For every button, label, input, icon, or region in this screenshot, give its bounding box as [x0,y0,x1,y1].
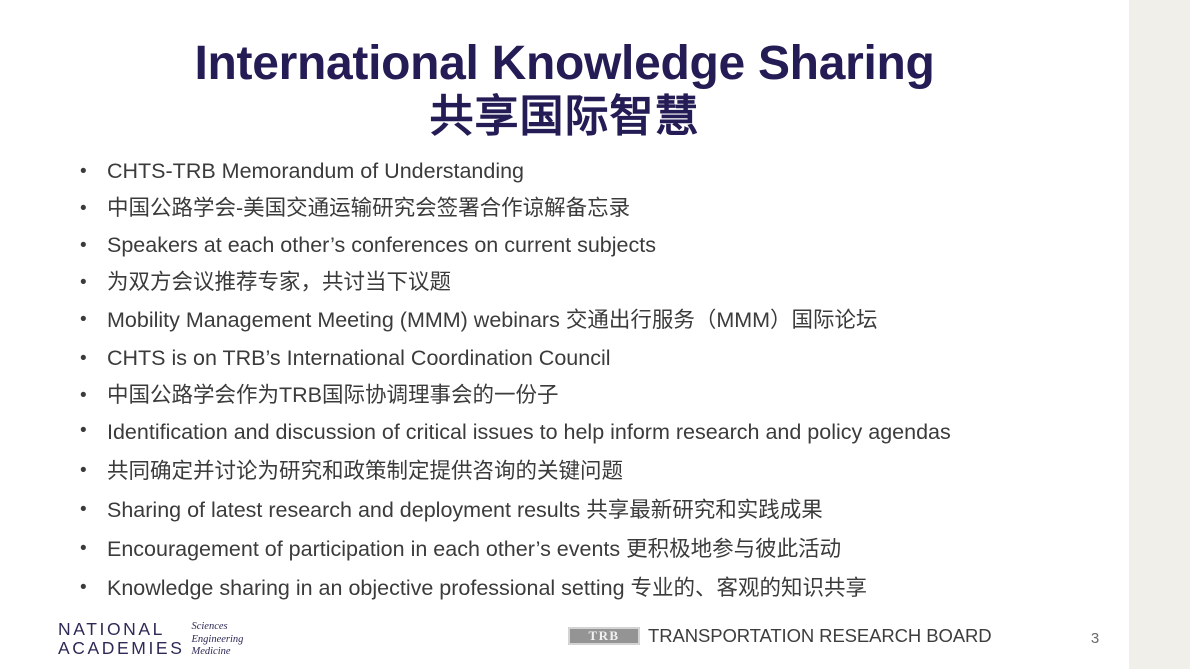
list-item: • Sharing of latest research and deploym… [74,491,1074,530]
trb-mark-icon: TRB [568,627,640,645]
national-academies-divisions: Sciences Engineering Medicine [191,621,243,659]
list-item-text: 为双方会议推荐专家，共讨当下议题 [107,264,1074,301]
list-item: • Speakers at each other’s conferences o… [74,227,1074,264]
bullet-list: • CHTS-TRB Memorandum of Understanding •… [74,153,1074,608]
bullet-marker-icon: • [80,491,94,528]
bullet-marker-icon: • [80,530,94,567]
trb-logo: TRB TRANSPORTATION RESEARCH BOARD [568,626,992,645]
bullet-marker-icon: • [80,153,94,190]
national-academies-line1: NATIONAL [58,620,184,639]
list-item-text: CHTS is on TRB’s International Coordinat… [107,340,1074,377]
list-item: • 为双方会议推荐专家，共讨当下议题 [74,264,1074,301]
list-item: • Mobility Management Meeting (MMM) webi… [74,301,1074,340]
page-title: International Knowledge Sharing 共享国际智慧 [0,36,1129,142]
list-item-text: Identification and discussion of critica… [107,417,1073,448]
bullet-marker-icon: • [80,414,94,448]
division-medicine: Medicine [191,646,243,659]
list-item-text: Speakers at each other’s conferences on … [107,227,1074,264]
trb-mark-text: TRB [589,629,620,642]
bullet-marker-icon: • [80,190,94,227]
division-sciences: Sciences [191,621,243,634]
list-item-text: 共同确定并讨论为研究和政策制定提供咨询的关键问题 [107,452,1074,491]
national-academies-line2: ACADEMIES [58,639,184,658]
slide-canvas: International Knowledge Sharing 共享国际智慧 •… [0,0,1190,669]
trb-wordmark: TRANSPORTATION RESEARCH BOARD [648,626,992,645]
bullet-marker-icon: • [80,264,94,301]
list-item: • 中国公路学会-美国交通运输研究会签署合作谅解备忘录 [74,190,1074,227]
list-item: • CHTS-TRB Memorandum of Understanding [74,153,1074,190]
bullet-marker-icon: • [80,301,94,338]
title-line-english: International Knowledge Sharing [0,36,1129,92]
bullet-marker-icon: • [80,569,94,606]
right-edge-band [1129,0,1190,669]
list-item-text: CHTS-TRB Memorandum of Understanding [107,153,1074,190]
division-engineering: Engineering [191,634,243,647]
list-item-text: Sharing of latest research and deploymen… [107,491,1074,530]
title-line-chinese: 共享国际智慧 [0,92,1129,142]
list-item-text: Knowledge sharing in an objective profes… [107,569,1074,608]
bullet-marker-icon: • [80,377,94,414]
list-item: • Knowledge sharing in an objective prof… [74,569,1074,608]
slide-number: 3 [1080,630,1110,648]
slide-footer: NATIONAL ACADEMIES Sciences Engineering … [0,612,1190,669]
list-item: • CHTS is on TRB’s International Coordin… [74,340,1074,377]
list-item-text: 中国公路学会-美国交通运输研究会签署合作谅解备忘录 [107,190,1074,227]
bullet-marker-icon: • [80,227,94,264]
bullet-marker-icon: • [80,340,94,377]
national-academies-logo: NATIONAL ACADEMIES Sciences Engineering … [58,620,243,659]
list-item-text: 中国公路学会作为TRB国际协调理事会的一份子 [107,377,1074,414]
list-item: • 中国公路学会作为TRB国际协调理事会的一份子 [74,377,1074,414]
national-academies-wordmark: NATIONAL ACADEMIES [58,620,184,658]
list-item: • Encouragement of participation in each… [74,530,1074,569]
list-item: • Identification and discussion of criti… [74,414,1074,452]
bullet-marker-icon: • [80,452,94,489]
list-item: • 共同确定并讨论为研究和政策制定提供咨询的关键问题 [74,452,1074,491]
list-item-text: Encouragement of participation in each o… [107,530,1074,569]
list-item-text: Mobility Management Meeting (MMM) webina… [107,301,1074,340]
